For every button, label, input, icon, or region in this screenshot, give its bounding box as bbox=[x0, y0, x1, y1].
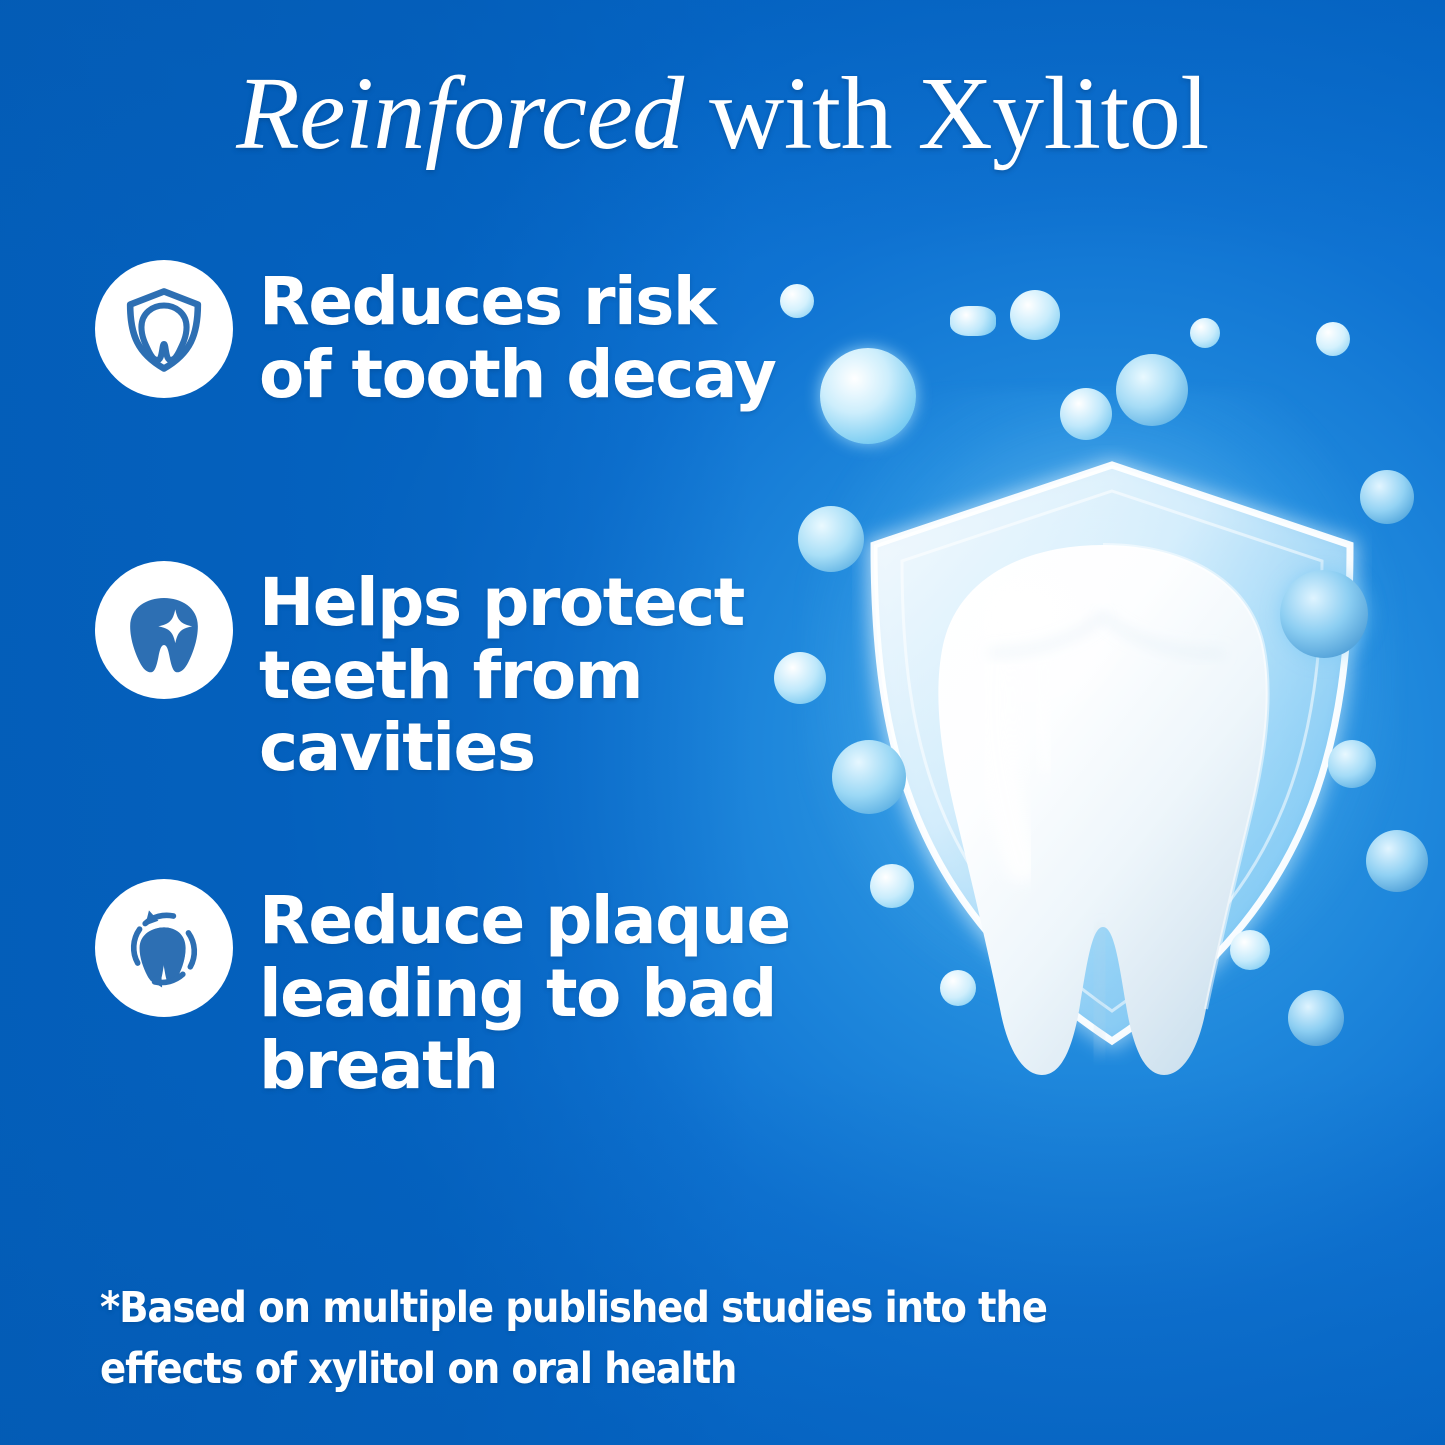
shield-tooth-icon bbox=[95, 260, 233, 398]
page-title-emphasis: Reinforced bbox=[236, 56, 683, 171]
sparkle-tooth-icon bbox=[95, 561, 233, 699]
page-title-rest: with Xylitol bbox=[684, 56, 1209, 171]
benefit-item-protect-cavities: Helps protect teeth from cavities bbox=[95, 559, 795, 785]
xylitol-benefits-poster: Reinforced with Xylitol Reduces risk of … bbox=[0, 0, 1445, 1445]
benefits-list: Reduces risk of tooth decay Helps protec… bbox=[95, 258, 795, 1103]
benefit-item-reduce-plaque: Reduce plaque leading to bad breath bbox=[95, 877, 795, 1103]
footnote-disclaimer: *Based on multiple published studies int… bbox=[100, 1278, 1189, 1400]
benefit-item-reduces-risk: Reduces risk of tooth decay bbox=[95, 258, 795, 411]
benefit-label: Reduces risk of tooth decay bbox=[259, 258, 795, 411]
page-title: Reinforced with Xylitol bbox=[0, 62, 1445, 166]
cycle-tooth-icon bbox=[95, 879, 233, 1017]
benefit-label: Reduce plaque leading to bad breath bbox=[259, 877, 795, 1103]
benefit-label: Helps protect teeth from cavities bbox=[259, 559, 795, 785]
